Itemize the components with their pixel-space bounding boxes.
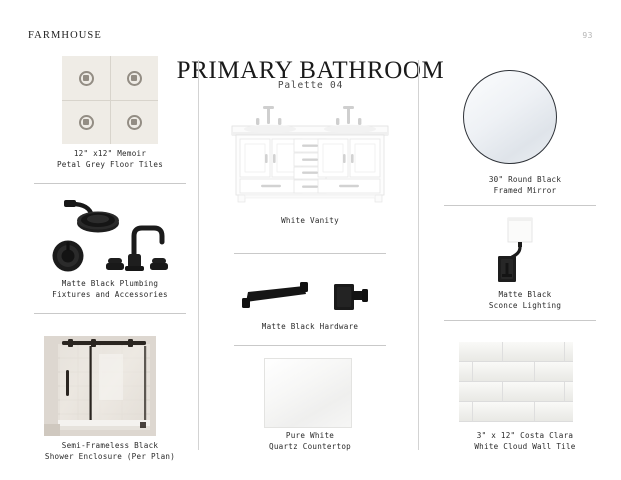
page-number: 93 (582, 31, 593, 40)
shower-enclosure-image (44, 336, 156, 436)
divider-right-1 (444, 205, 596, 206)
round-mirror-image (463, 70, 557, 164)
vanity-image (226, 96, 394, 204)
shower-enclosure-caption: Semi-Frameless Black Shower Enclosure (P… (16, 440, 204, 462)
quartz-countertop-caption: Pure White Quartz Countertop (230, 430, 390, 452)
divider-center-2 (234, 345, 386, 346)
hardware-caption: Matte Black Hardware (230, 321, 390, 332)
floor-tile-caption: 12" x12" Memoir Petal Grey Floor Tiles (20, 148, 200, 170)
plumbing-fixtures-image (42, 196, 182, 274)
divider-right-2 (444, 320, 596, 321)
wall-tile-swatch (459, 342, 573, 422)
column-divider-left (198, 60, 199, 450)
plumbing-fixtures-caption: Matte Black Plumbing Fixtures and Access… (20, 278, 200, 300)
divider-left-1 (34, 183, 186, 184)
divider-left-2 (34, 313, 186, 314)
column-divider-right (418, 60, 419, 450)
vanity-caption: White Vanity (230, 215, 390, 226)
sconce-caption: Matte Black Sconce Lighting (430, 289, 620, 311)
brand-label: FARMHOUSE (28, 30, 102, 41)
hardware-image (238, 276, 382, 314)
quartz-countertop-swatch (264, 358, 352, 428)
wall-tile-caption: 3" x 12" Costa Clara White Cloud Wall Ti… (430, 430, 620, 452)
divider-center-1 (234, 253, 386, 254)
round-mirror-caption: 30" Round Black Framed Mirror (430, 174, 620, 196)
moodboard-page: FARMHOUSE 93 PRIMARY BATHROOM Palette 04… (0, 0, 621, 480)
sconce-image (488, 216, 536, 284)
floor-tile-swatch (62, 56, 158, 144)
